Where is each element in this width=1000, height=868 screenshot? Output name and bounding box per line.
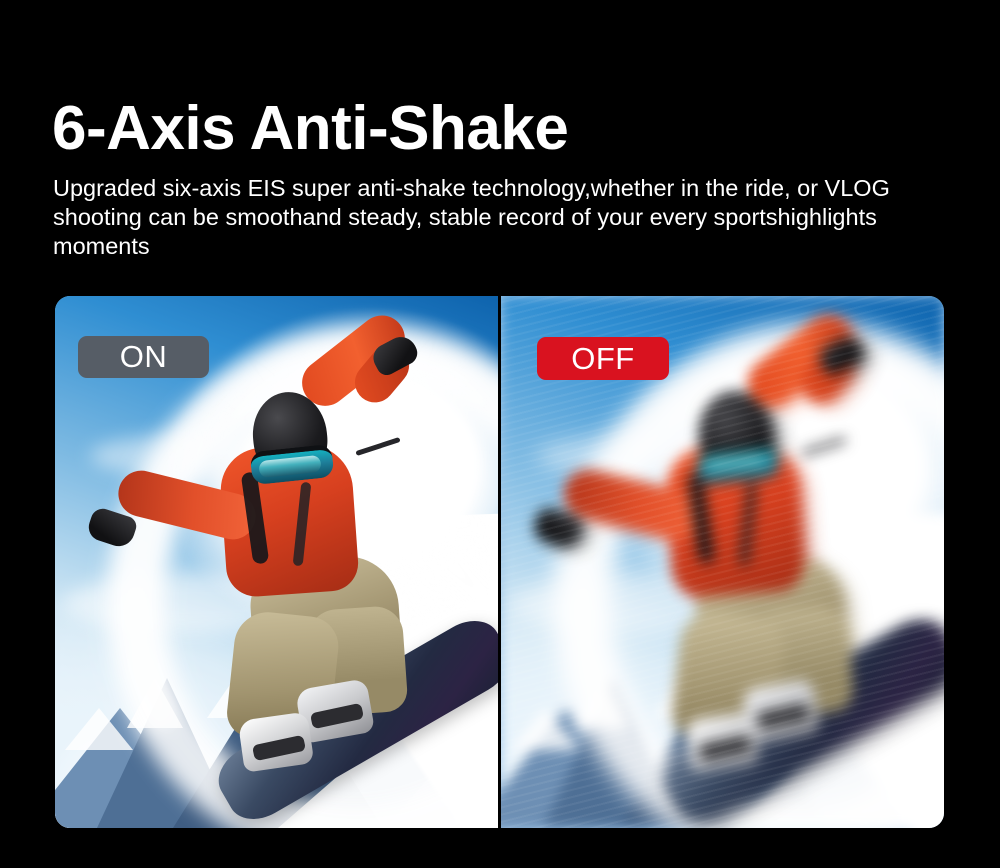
panel-anti-shake-off: OFF (501, 296, 944, 828)
panel-anti-shake-on: ON (55, 296, 498, 828)
status-badge-on[interactable]: ON (78, 336, 209, 378)
comparison-panels: ON (55, 296, 944, 828)
status-badge-off[interactable]: OFF (537, 337, 669, 380)
board-edge-detail (801, 437, 846, 456)
promo-page: 6-Axis Anti-Shake Upgraded six-axis EIS … (0, 0, 1000, 868)
page-title: 6-Axis Anti-Shake (52, 96, 952, 162)
board-edge-detail (355, 437, 400, 456)
page-description: Upgraded six-axis EIS super anti-shake t… (53, 174, 953, 261)
